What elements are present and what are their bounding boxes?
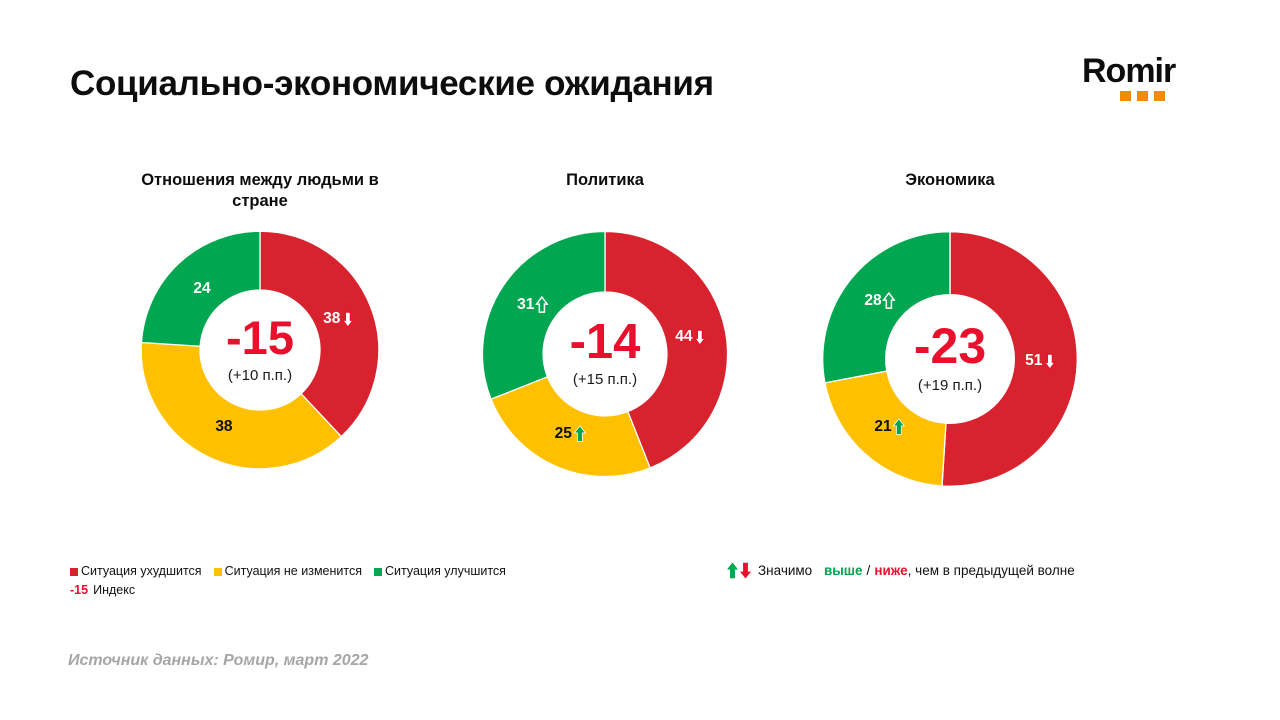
segment-value: 38 xyxy=(215,418,232,436)
logo-wordmark: Romir xyxy=(1082,54,1212,88)
arrow-up-outline-icon xyxy=(535,296,548,313)
chart-title: Политика xyxy=(465,170,745,191)
legend-arrows xyxy=(726,562,752,579)
arrow-up-green-icon xyxy=(893,418,906,435)
donut-chart: -15 (+10 п.п.) 383824 xyxy=(135,225,385,475)
romir-logo: Romir xyxy=(1082,54,1212,101)
arrow-down-outline-icon xyxy=(1043,353,1056,370)
donut-segment xyxy=(260,232,379,437)
segment-value-label: 51 xyxy=(1025,352,1056,370)
segment-value: 21 xyxy=(874,418,891,436)
arrow-up-outline-icon xyxy=(883,292,896,309)
logo-dot-1 xyxy=(1120,91,1131,101)
legend-item-same: Ситуация не изменится xyxy=(214,562,362,581)
legend-label-better: Ситуация улучшится xyxy=(385,562,506,581)
chart-title: Отношения между людьми в стране xyxy=(120,170,400,211)
arrow-up-green-icon xyxy=(573,425,586,442)
legend-item-better: Ситуация улучшится xyxy=(374,562,506,581)
legend-significance: Значимо выше / ниже , чем в предыдущей в… xyxy=(726,562,1075,579)
legend-word-lower: ниже xyxy=(874,563,907,578)
donut-svg xyxy=(476,225,734,483)
page-title: Социально-экономические ожидания xyxy=(70,64,714,104)
donut-segment xyxy=(942,231,1077,486)
logo-dot-2 xyxy=(1137,91,1148,101)
legend-text-before: Значимо xyxy=(758,563,812,578)
legend-item-worse: Ситуация ухудшится xyxy=(70,562,202,581)
legend-row-index: -15 Индекс xyxy=(70,581,518,600)
logo-dot-3 xyxy=(1154,91,1165,101)
segment-value: 31 xyxy=(517,296,534,314)
donut-chart: -23 (+19 п.п.) 512128 xyxy=(816,225,1084,493)
legend-label-same: Ситуация не изменится xyxy=(225,562,362,581)
segment-value-label: 44 xyxy=(675,328,706,346)
segment-value-label: 38 xyxy=(323,310,354,328)
segment-value-label: 24 xyxy=(193,280,210,298)
legend-text-after: , чем в предыдущей волне xyxy=(908,563,1075,578)
segment-value-label: 21 xyxy=(874,418,905,436)
legend-swatch-better xyxy=(374,568,382,576)
segment-value-label: 25 xyxy=(555,425,586,443)
logo-dots xyxy=(1120,91,1212,101)
legend-swatch-same xyxy=(214,568,222,576)
arrow-down-red-icon xyxy=(739,562,752,579)
segment-value: 51 xyxy=(1025,352,1042,370)
chart-block-relations: Отношения между людьми в стране -15 (+10… xyxy=(80,170,440,475)
source-note: Источник данных: Ромир, март 2022 xyxy=(68,652,368,670)
segment-value: 44 xyxy=(675,328,692,346)
chart-block-economy: Экономика -23 (+19 п.п.) 512128 xyxy=(770,170,1130,493)
legend-label-worse: Ситуация ухудшится xyxy=(81,562,202,581)
legend-index-sample: -15 xyxy=(70,581,88,600)
chart-title: Экономика xyxy=(810,170,1090,191)
segment-value-label: 31 xyxy=(517,296,548,314)
legend-index-label: Индекс xyxy=(93,581,135,600)
segment-value-label: 28 xyxy=(864,292,895,310)
legend-row-series: Ситуация ухудшится Ситуация не изменится… xyxy=(70,562,518,581)
donut-chart: -14 (+15 п.п.) 442531 xyxy=(476,225,734,483)
segment-value: 24 xyxy=(193,280,210,298)
donut-svg xyxy=(135,225,385,475)
arrow-down-outline-icon xyxy=(693,329,706,346)
segment-value: 28 xyxy=(864,292,881,310)
segment-value-label: 38 xyxy=(215,418,232,436)
arrow-up-green-icon xyxy=(726,562,739,579)
legend-series: Ситуация ухудшится Ситуация не изменится… xyxy=(70,562,518,601)
charts-row: Отношения между людьми в стране -15 (+10… xyxy=(0,170,1280,515)
arrow-down-outline-icon xyxy=(341,311,354,328)
chart-block-politics: Политика -14 (+15 п.п.) 442531 xyxy=(425,170,785,483)
segment-value: 25 xyxy=(555,425,572,443)
donut-segment xyxy=(141,343,341,469)
legend-word-higher: выше xyxy=(824,563,863,578)
legend-swatch-worse xyxy=(70,568,78,576)
legend-separator: / xyxy=(867,563,871,578)
donut-segment xyxy=(482,231,605,399)
segment-value: 38 xyxy=(323,310,340,328)
